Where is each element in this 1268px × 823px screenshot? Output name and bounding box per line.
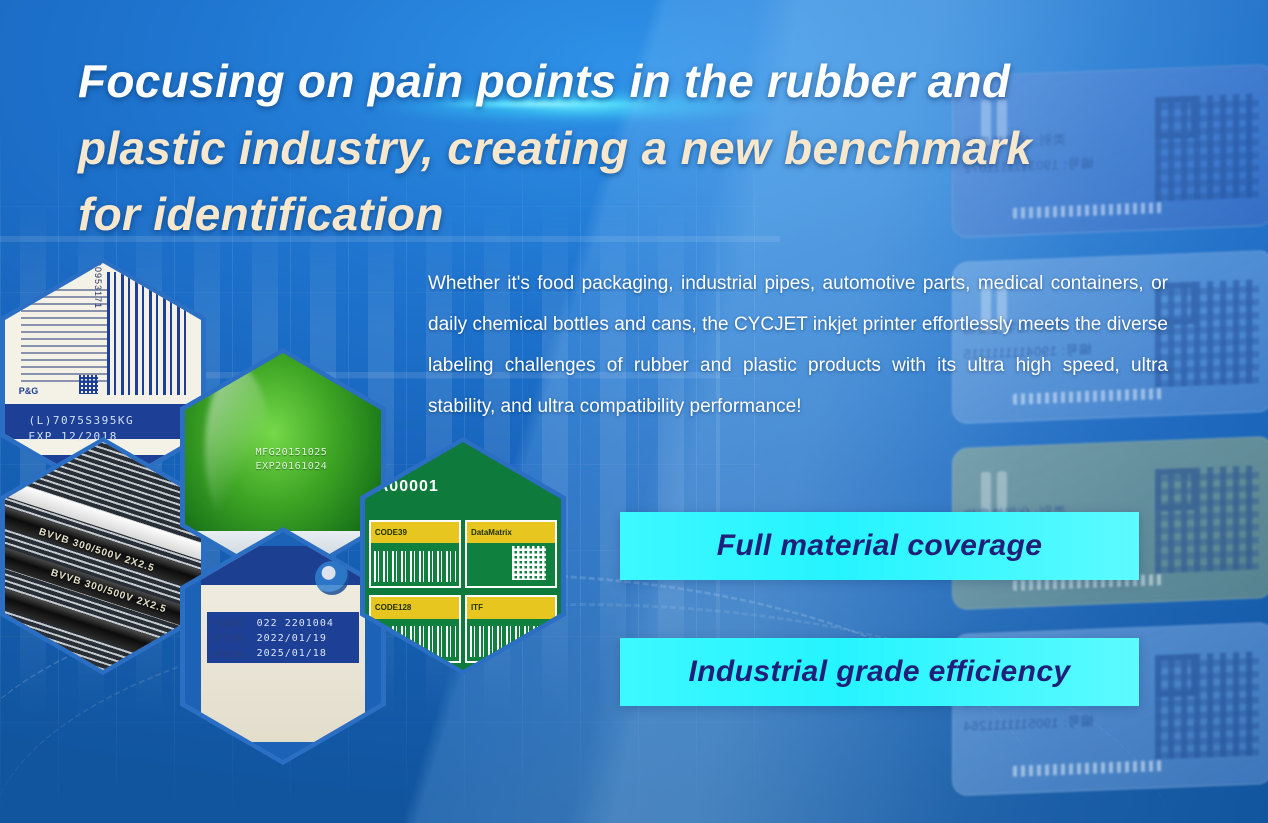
barcode-icon [374, 551, 455, 582]
bottle-printed-code: MFG20151025EXP20161024 [256, 446, 328, 473]
printed-code: (L)7075S395KGEXP 12/2018 [29, 413, 135, 445]
pcb-label-cell: CODE39 [369, 520, 461, 588]
barcode-icon [470, 626, 551, 657]
headline-line-3: for identification [78, 181, 1128, 248]
datamatrix-icon [79, 375, 98, 394]
callout-banner-label: Industrial grade efficiency [688, 655, 1070, 689]
carton-logo-icon [315, 561, 349, 595]
pcb-label-cell: DataMatrix [465, 520, 557, 588]
brand-logo: P&G [19, 386, 39, 396]
carton-cn-labels: 产品批号生产日期有效日期 [212, 616, 244, 662]
pcb-serial: A00001 [377, 478, 439, 496]
barcode-icon [107, 272, 189, 395]
body-paragraph-block: Whether it's food packaging, industrial … [428, 263, 1168, 427]
hex-photo-medical-box: 产品批号生产日期有效日期 022 22010042022/01/192025/0… [180, 527, 386, 765]
barcode-number: 90953171 [93, 263, 103, 309]
symbology-name: CODE39 [371, 522, 459, 544]
callout-banner-full-material-coverage: Full material coverage [620, 512, 1139, 580]
promotional-banner: 类别: 化学性废物 编号: 1903111111072 类别: 化学性废物 编号… [0, 0, 1268, 823]
headline: Focusing on pain points in the rubber an… [78, 48, 1128, 248]
hex-photo-cables: BVVB 300/500V 2X2.5 BVVB 300/500V 2X2.5 [0, 437, 206, 675]
headline-line-2: plastic industry, creating a new benchma… [78, 115, 1128, 182]
body-paragraph: Whether it's food packaging, industrial … [428, 263, 1168, 427]
carton: 产品批号生产日期有效日期 022 22010042022/01/192025/0… [201, 546, 366, 742]
callout-banner-label: Full material coverage [717, 529, 1043, 563]
callout-banner-industrial-grade-efficiency: Industrial grade efficiency [620, 638, 1139, 706]
barcode-icon [374, 626, 455, 657]
symbology-name: ITF [467, 597, 555, 619]
datamatrix-icon [512, 546, 546, 580]
hex-photo-pcb-labels: A00001 CODE39 DataMatrix CODE128 ITF [360, 437, 566, 675]
carton-printed-code: 022 22010042022/01/192025/01/18 [257, 616, 334, 661]
pcb-label-cell: ITF [465, 595, 557, 663]
symbology-name: CODE128 [371, 597, 459, 619]
headline-line-1: Focusing on pain points in the rubber an… [78, 48, 1128, 115]
symbology-name: DataMatrix [467, 522, 555, 544]
